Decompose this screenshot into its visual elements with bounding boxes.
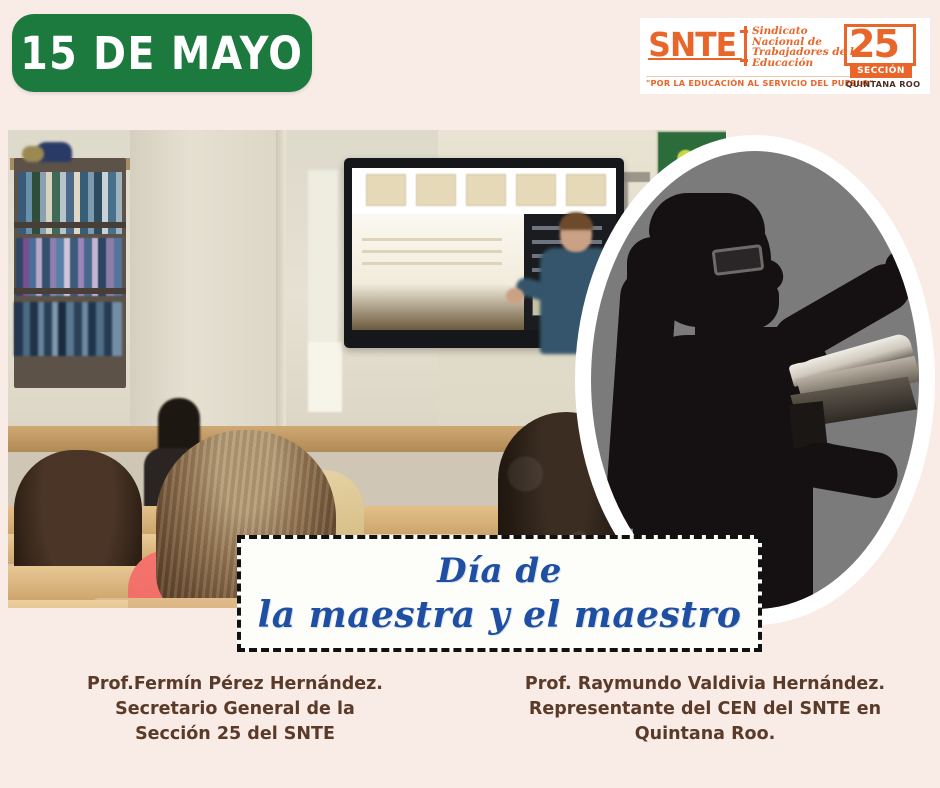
screen-line-3 [362, 262, 502, 265]
snte-logo: SNTE Sindicato Nacional de Trabajadores … [640, 18, 930, 94]
credit-right-line-1: Prof. Raymundo Valdivia Hernández. [470, 672, 940, 697]
snte-wordmark: SNTE [646, 28, 746, 64]
snte-logo-inner: SNTE Sindicato Nacional de Trabajadores … [640, 18, 930, 94]
photo-door-panel [308, 170, 338, 360]
photo-standing-teacher-hand [506, 288, 524, 304]
credit-left-line-3: Sección 25 del SNTE [0, 722, 470, 747]
snte-section-word: SECCIÓN [850, 64, 912, 78]
photo-pillar-edge [276, 130, 286, 430]
title-line-1: Día de [437, 550, 562, 592]
snte-wordmark-text: SNTE [648, 28, 736, 62]
photo-pillar [130, 130, 280, 430]
screen-thumb-1 [366, 174, 406, 206]
screen-thumb-3 [466, 174, 506, 206]
title-line-2: la maestra y el maestro [258, 592, 742, 638]
photo-backpack-yellow [22, 146, 44, 162]
book-spine [789, 401, 827, 448]
screen-thumb-4 [516, 174, 556, 206]
credit-left-line-2: Secretario General de la [0, 697, 470, 722]
screen-thumb-2 [416, 174, 456, 206]
photo-paper-sheet [308, 342, 342, 412]
snte-section-block: 25 SECCIÓN QUINTANA ROO [844, 24, 922, 88]
snte-divider-icon [744, 26, 747, 66]
photo-books-row-3 [14, 302, 122, 356]
title-card: Día de la maestra y el maestro [237, 535, 762, 652]
poster-canvas: 15 DE MAYO SNTE Sindicato Nacional de Tr… [0, 0, 940, 788]
snte-section-state: QUINTANA ROO [844, 79, 922, 89]
silhouette-bangs [649, 193, 765, 245]
screen-line-1 [362, 238, 502, 241]
credit-left-line-1: Prof.Fermín Pérez Hernández. [0, 672, 470, 697]
screen-main-panel [352, 214, 524, 330]
credit-left: Prof.Fermín Pérez Hernández. Secretario … [0, 668, 470, 778]
photo-front-table [8, 600, 128, 608]
snte-motto: "POR LA EDUCACIÓN AL SERVICIO DEL PUEBLO… [646, 76, 872, 88]
snte-section-number-frame: 25 [844, 24, 916, 66]
photo-shelf-divider-2 [14, 288, 126, 294]
date-badge: 15 DE MAYO [12, 14, 312, 92]
credits-row: Prof.Fermín Pérez Hernández. Secretario … [0, 668, 940, 778]
snte-section-number: 25 [849, 21, 898, 67]
credit-right-line-2: Representante del CEN del SNTE en [470, 697, 940, 722]
screen-line-2 [362, 250, 502, 253]
silhouette-hand-lower [801, 443, 841, 481]
credit-right-line-3: Quintana Roo. [470, 722, 940, 747]
date-badge-label: 15 DE MAYO [20, 31, 303, 76]
photo-shelf-divider-1 [14, 222, 126, 228]
credit-right: Prof. Raymundo Valdivia Hernández. Repre… [470, 668, 940, 778]
snte-book-icon [648, 58, 742, 67]
